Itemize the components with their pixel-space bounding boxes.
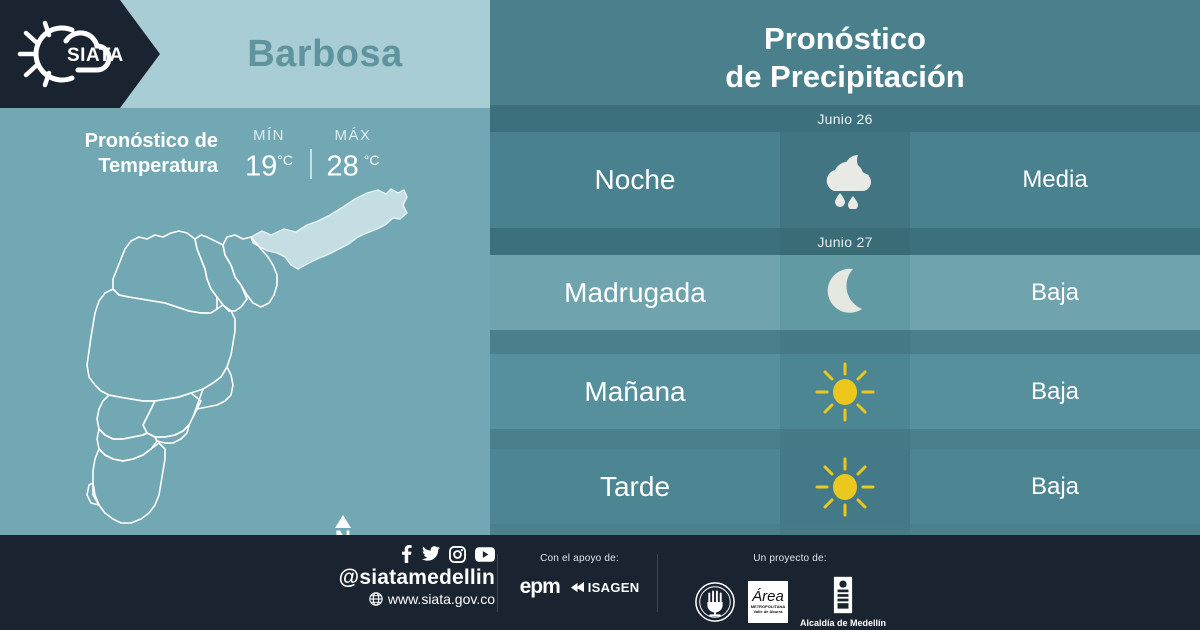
temperature-block: Pronóstico de Temperatura MÍN 19°C MÁX 2… bbox=[60, 122, 460, 186]
unal-seal-icon[interactable] bbox=[694, 581, 736, 623]
amva-sub2: Valle de Aburrá bbox=[753, 609, 782, 614]
probability-label: Media bbox=[910, 166, 1200, 194]
project-block: Un proyecto de: Área bbox=[665, 553, 915, 628]
date-band-day1: Junio 26 bbox=[490, 105, 1200, 132]
min-caption: MÍN bbox=[253, 127, 285, 144]
support-caption: Con el apoyo de: bbox=[512, 553, 647, 564]
facebook-icon[interactable] bbox=[400, 545, 413, 563]
social-block: @siatamedellin www.siata.gov.co bbox=[255, 545, 495, 608]
area-metropolitana-logo[interactable]: Área METROPOLITANA Valle de Aburrá bbox=[748, 581, 788, 623]
website-url: www.siata.gov.co bbox=[388, 590, 495, 608]
alcaldia-medellin-icon[interactable] bbox=[830, 575, 856, 615]
period-label: Tarde bbox=[490, 471, 780, 503]
map-region-barbosa bbox=[251, 189, 407, 269]
youtube-icon[interactable] bbox=[475, 547, 495, 562]
period-label: Noche bbox=[490, 164, 780, 196]
temperature-label-line1: Pronóstico de bbox=[85, 130, 218, 152]
period-label: Mañana bbox=[490, 376, 780, 408]
moon-icon bbox=[780, 255, 910, 330]
temperature-min: MÍN 19°C bbox=[232, 127, 306, 182]
website-line[interactable]: www.siata.gov.co bbox=[369, 590, 495, 608]
footer-divider-2 bbox=[657, 554, 658, 612]
twitter-icon[interactable] bbox=[422, 545, 440, 563]
max-caption: MÁX bbox=[334, 127, 371, 144]
sun-icon bbox=[780, 449, 910, 524]
aburra-valley-map[interactable]: N bbox=[55, 185, 465, 530]
amva-name: Área bbox=[752, 590, 784, 604]
map-svg bbox=[55, 185, 465, 530]
page-title: Barbosa bbox=[160, 0, 490, 108]
sun-icon bbox=[780, 354, 910, 429]
instagram-icon[interactable] bbox=[449, 546, 466, 563]
probability-label: Baja bbox=[910, 279, 1200, 307]
isagen-logo[interactable]: ISAGEN bbox=[588, 580, 640, 595]
footer: @siatamedellin www.siata.gov.co Con el a… bbox=[0, 535, 1200, 630]
globe-icon bbox=[369, 592, 383, 606]
date-band-day2: Junio 27 bbox=[490, 228, 1200, 255]
social-icons bbox=[400, 545, 495, 563]
project-caption: Un proyecto de: bbox=[665, 553, 915, 564]
right-panel: Pronóstico de Precipitación Junio 26 Noc… bbox=[490, 0, 1200, 535]
siata-logo-text: SIATA bbox=[67, 45, 124, 66]
temperature-max: MÁX 28°C bbox=[316, 127, 390, 182]
precipitation-title: Pronóstico de Precipitación bbox=[490, 10, 1200, 105]
alcaldia-label: Alcaldía de Medellín bbox=[800, 618, 886, 628]
forecast-row-madrugada[interactable]: Madrugada Baja bbox=[490, 255, 1200, 330]
precipitation-title-line1: Pronóstico bbox=[764, 20, 926, 58]
forecast-row-tarde[interactable]: Tarde Baja bbox=[490, 449, 1200, 524]
moon-rain-cloud-icon bbox=[780, 132, 910, 228]
temperature-divider bbox=[310, 149, 312, 179]
precipitation-title-line2: de Precipitación bbox=[725, 58, 964, 96]
social-handle[interactable]: @siatamedellin bbox=[339, 566, 495, 590]
forecast-row-noche[interactable]: Noche Media bbox=[490, 132, 1200, 228]
epm-logo[interactable]: epm bbox=[520, 575, 560, 599]
temperature-label-line2: Temperatura bbox=[98, 155, 218, 177]
temperature-label: Pronóstico de Temperatura bbox=[60, 129, 232, 179]
support-block: Con el apoyo de: epm ISAGEN bbox=[512, 553, 647, 599]
isagen-mark-icon bbox=[570, 581, 585, 594]
period-label: Madrugada bbox=[490, 277, 780, 309]
sun-cloud-icon: SIATA bbox=[14, 14, 134, 94]
left-panel: SIATA Barbosa Pronóstico de Temperatura … bbox=[0, 0, 490, 535]
min-value: 19°C bbox=[245, 145, 293, 182]
weather-infographic: SIATA Barbosa Pronóstico de Temperatura … bbox=[0, 0, 1200, 630]
footer-divider-1 bbox=[497, 554, 498, 612]
forecast-row-manana[interactable]: Mañana Baja bbox=[490, 354, 1200, 429]
probability-label: Baja bbox=[910, 378, 1200, 406]
probability-label: Baja bbox=[910, 473, 1200, 501]
max-value: 28°C bbox=[327, 145, 380, 182]
